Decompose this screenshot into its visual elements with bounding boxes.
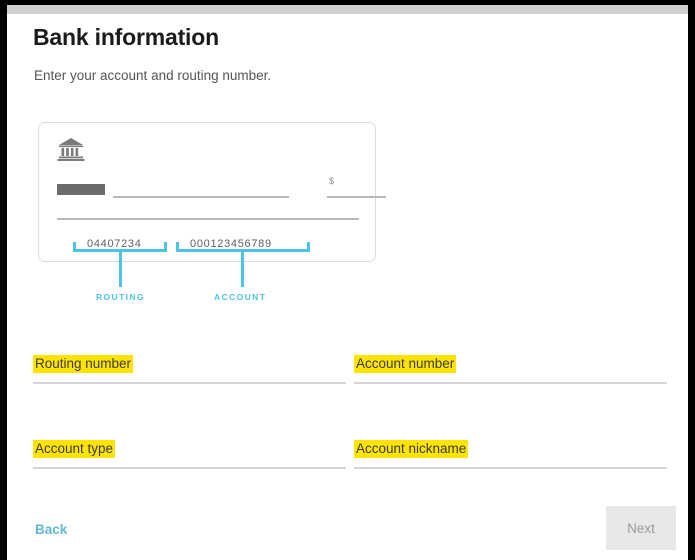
account-number-label: Account number	[354, 355, 456, 373]
routing-leader-line	[119, 251, 122, 287]
routing-number-underline	[33, 382, 346, 384]
account-type-field[interactable]: Account type	[33, 440, 346, 469]
account-type-underline	[33, 467, 346, 469]
bank-information-page: Bank information Enter your account and …	[7, 14, 688, 560]
dollar-sign-icon: $	[329, 176, 334, 186]
account-number-underline	[354, 382, 667, 384]
check-payee-block	[57, 184, 105, 195]
routing-caption: ROUTING	[96, 292, 145, 302]
back-link[interactable]: Back	[35, 522, 67, 537]
check-amount-words-rule	[57, 218, 359, 220]
window-top-strip	[7, 5, 688, 14]
next-button[interactable]: Next	[606, 506, 676, 550]
account-nickname-field[interactable]: Account nickname	[354, 440, 667, 469]
screenshot-frame: Bank information Enter your account and …	[0, 0, 695, 560]
account-leader-line	[241, 251, 244, 287]
account-nickname-underline	[354, 467, 667, 469]
page-title: Bank information	[33, 24, 219, 51]
account-type-label: Account type	[33, 440, 115, 458]
bank-building-icon	[57, 136, 85, 162]
account-nickname-label: Account nickname	[354, 440, 468, 458]
account-caption: ACCOUNT	[214, 292, 266, 302]
check-illustration: $ 04407234 000123456789 ROUTING ACCOUNT	[34, 114, 376, 309]
check-card: $ 04407234 000123456789	[38, 122, 376, 262]
page-subtitle: Enter your account and routing number.	[34, 68, 271, 83]
account-number-field[interactable]: Account number	[354, 355, 667, 384]
check-amount-rule	[327, 196, 386, 198]
routing-number-field[interactable]: Routing number	[33, 355, 346, 384]
check-payee-rule	[113, 196, 289, 198]
routing-number-label: Routing number	[33, 355, 133, 373]
